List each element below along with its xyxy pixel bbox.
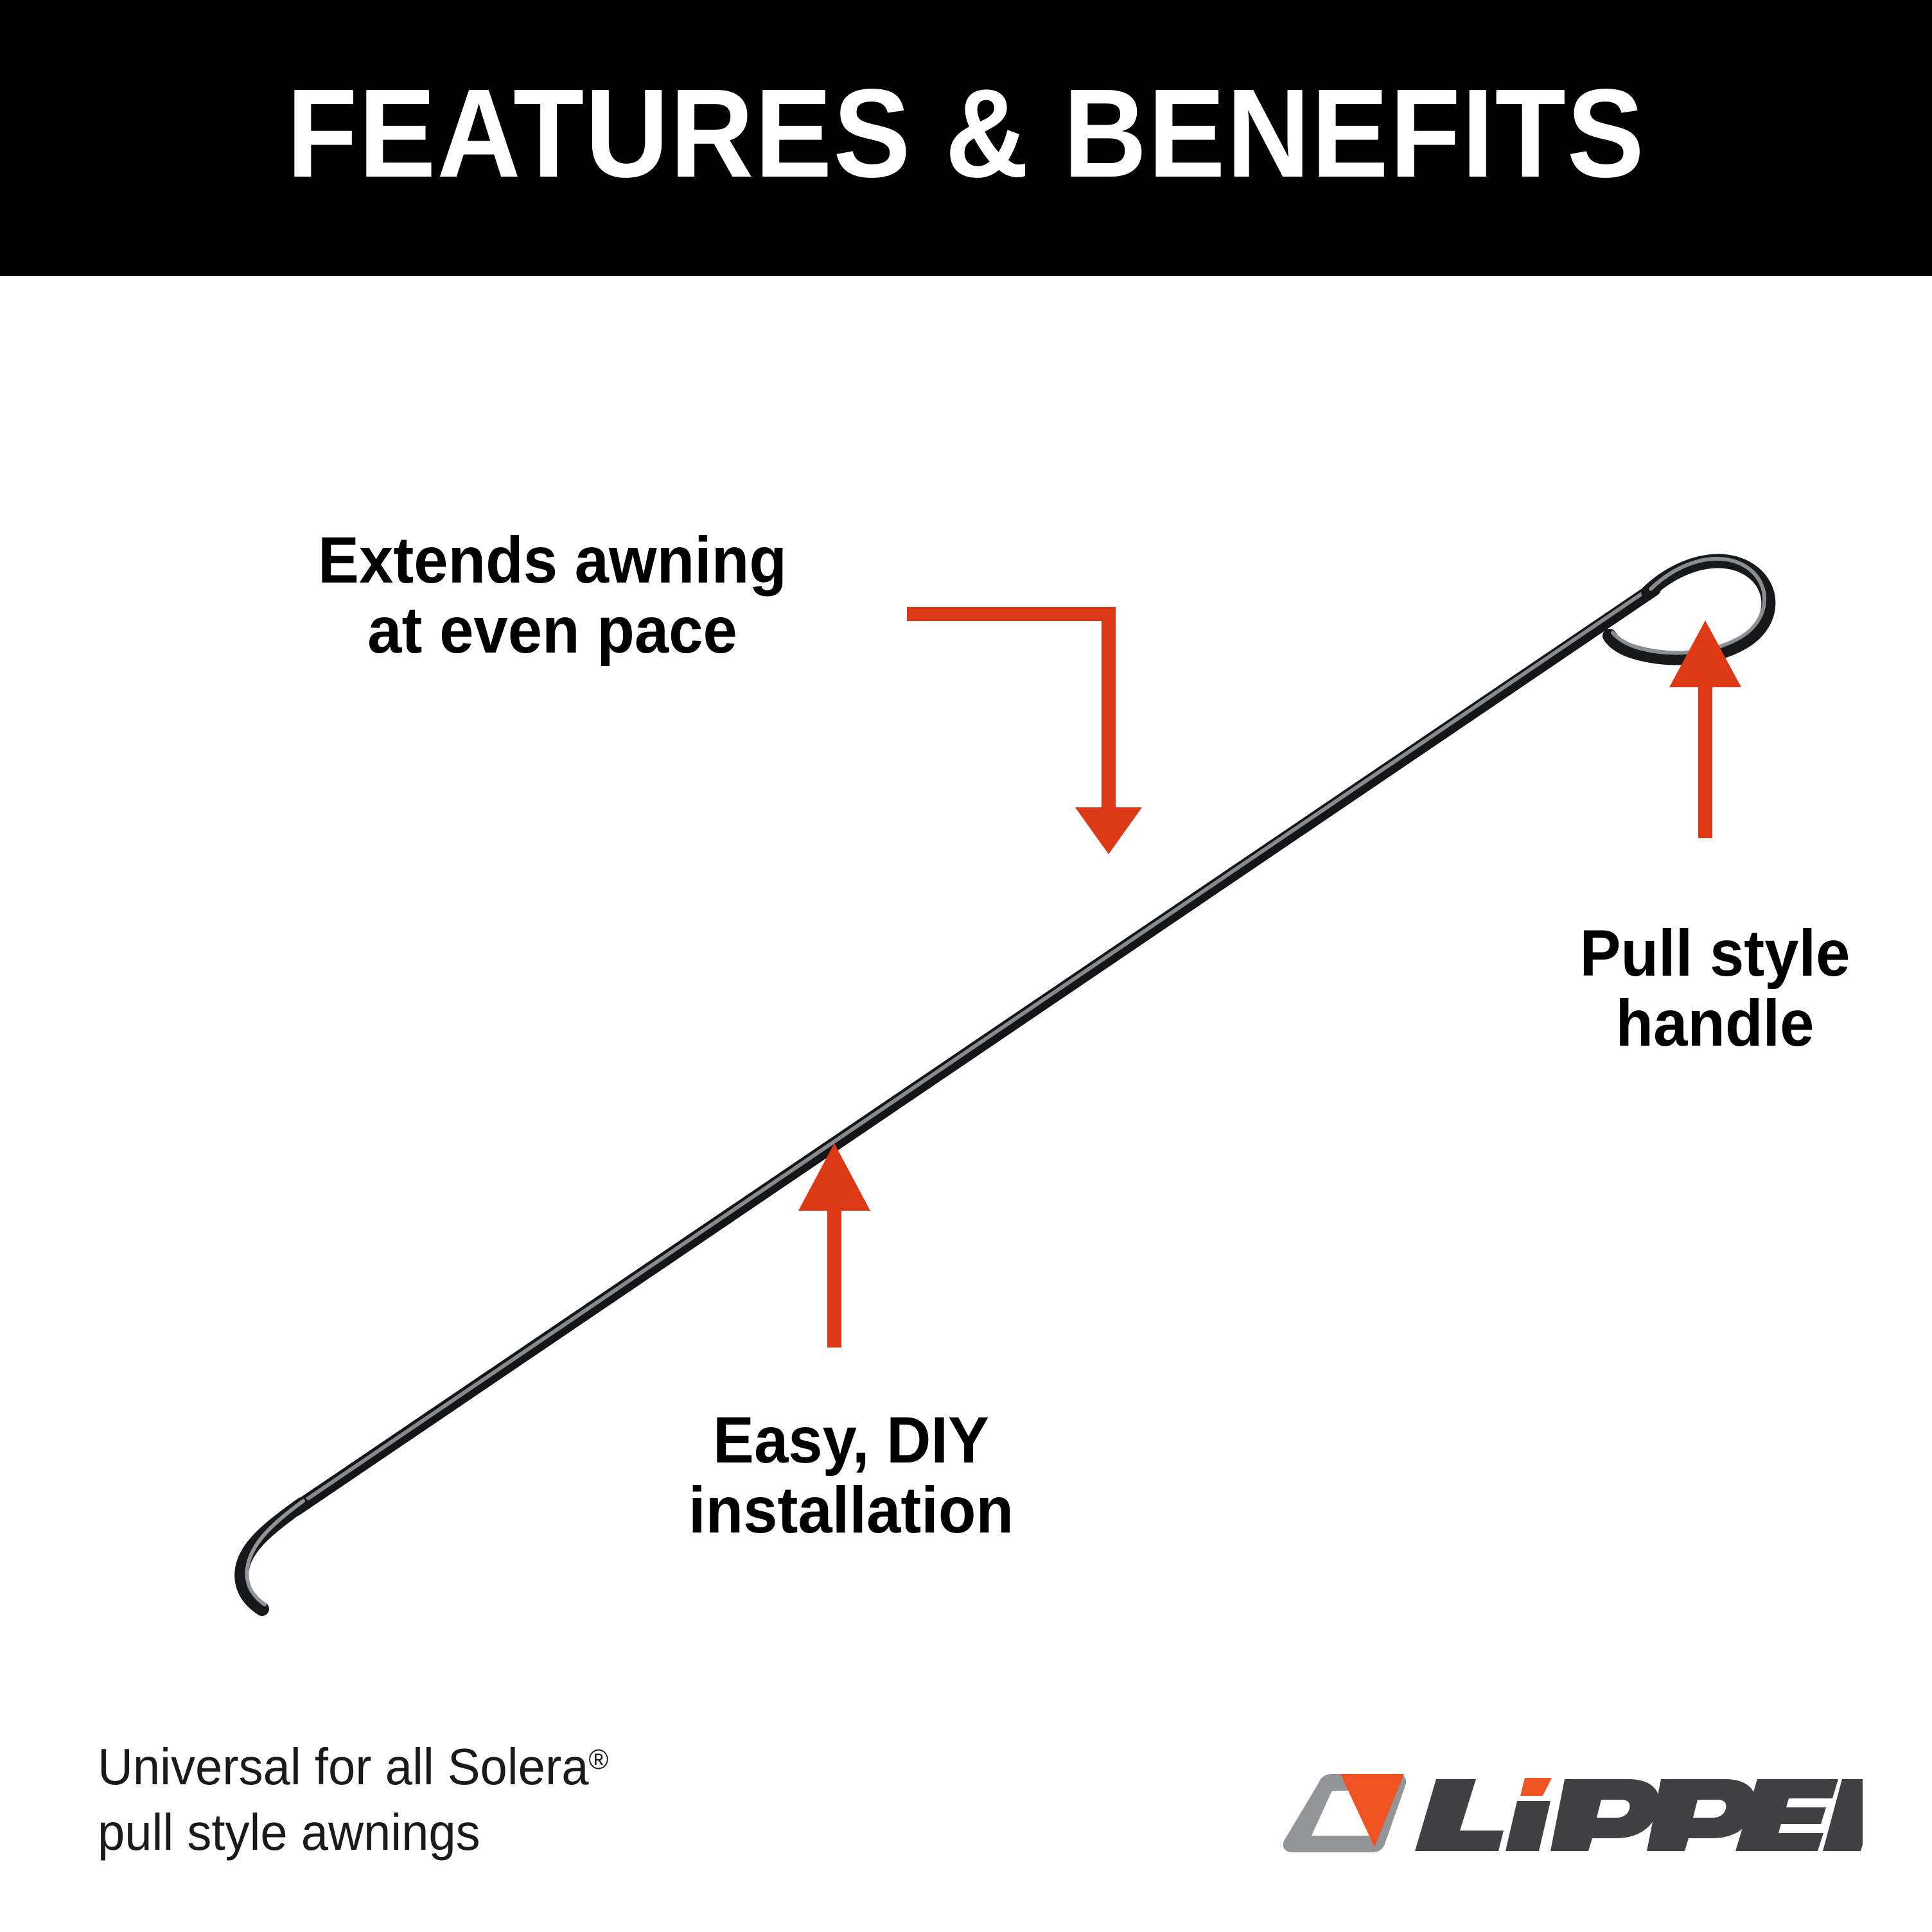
callout-label-extends-awning: Extends awning at even pace [250, 525, 854, 665]
trademark-symbol: ™ [1849, 1777, 1862, 1791]
arrow-extends-awning [907, 607, 1142, 854]
lippert-logo: ™ [1278, 1771, 1863, 1868]
callout-label-easy-diy-installation: Easy, DIY installation [613, 1405, 1090, 1545]
footer-compatibility-note: Universal for all Solera®pull style awni… [98, 1734, 830, 1866]
footer-note-line2: pull style awnings [98, 1804, 480, 1861]
rod-shaft [295, 589, 1654, 1509]
callout-label-pull-style-handle: Pull style handle [1516, 918, 1914, 1058]
infographic-page: FEATURES & BENEFITS [0, 0, 1932, 1932]
arrow-easy-diy-installation [798, 1143, 870, 1348]
lippert-wordmark [1415, 1778, 1863, 1851]
product-illustration-stage [0, 276, 1932, 1932]
footer-note-line1: Universal for all Solera [98, 1738, 589, 1795]
page-title: FEATURES & BENEFITS [77, 0, 1854, 276]
rod-shaft-highlight [297, 586, 1653, 1506]
lippert-chevron-mark-icon [1283, 1774, 1406, 1852]
registered-trademark-icon: ® [589, 1744, 609, 1775]
